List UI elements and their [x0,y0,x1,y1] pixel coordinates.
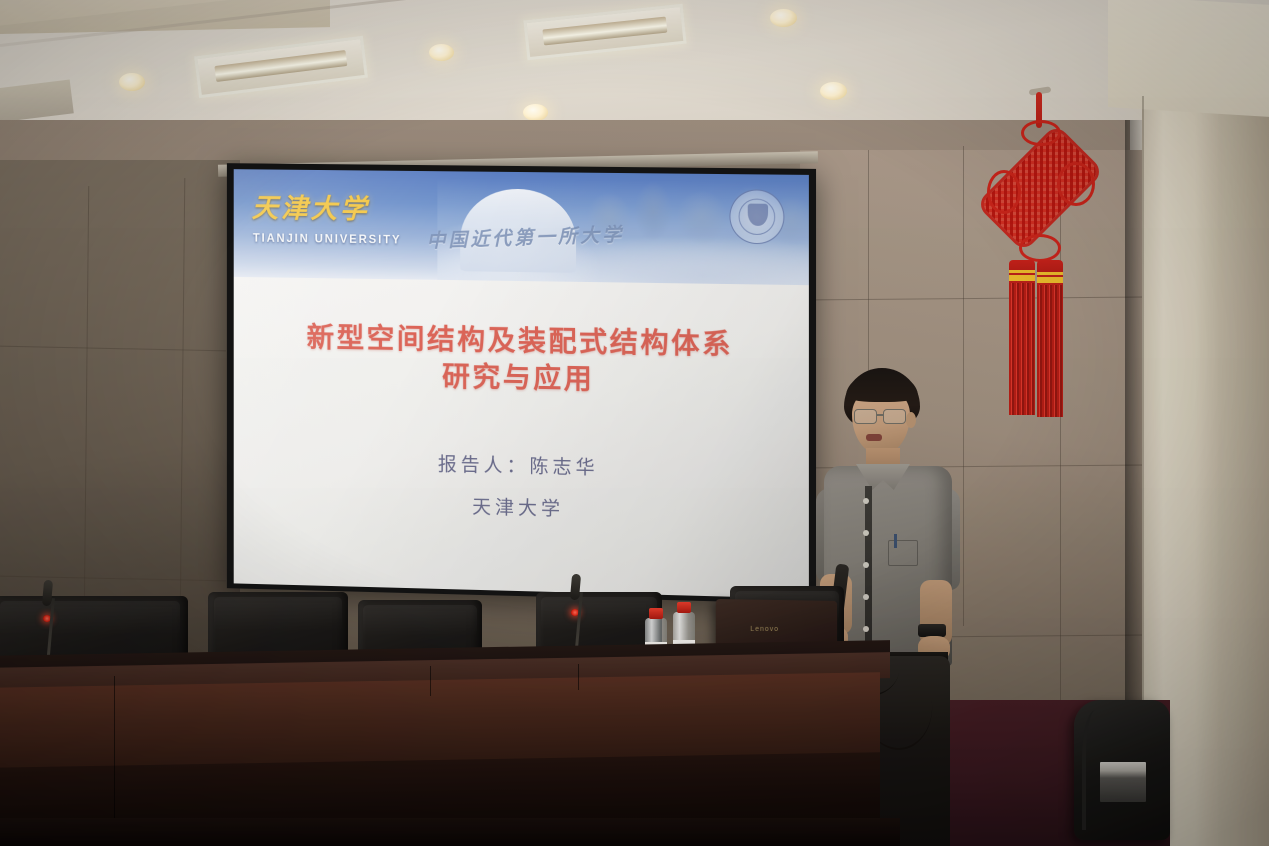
projected-slide: 天津大学 TIANJIN UNIVERSITY 中国近代第一所大学 新型空间结构… [234,169,809,599]
knot-loop-left [987,170,1021,214]
backpack [1074,700,1170,840]
table-seam [430,666,431,696]
shirt-button [863,530,869,536]
presenter-ear [906,412,916,428]
knot-loop-right [1057,162,1095,206]
university-seal-icon [729,189,784,244]
slide-presenter-name: 报告人：陈志华 [256,445,785,483]
slide-title: 新型空间结构及装配式结构体系 研究与应用 [251,319,792,402]
knot-loop-top [1021,120,1061,146]
bottle-cap [677,602,691,613]
projection-screen: 天津大学 TIANJIN UNIVERSITY 中国近代第一所大学 新型空间结构… [227,163,816,604]
downlight-7 [820,82,847,100]
bottle-cap [649,608,663,619]
column-side-face [1218,108,1269,846]
knot-loop-bottom [1019,234,1061,262]
backpack-tag [1100,762,1146,802]
knot-body [991,122,1089,262]
pen-icon [894,534,897,548]
university-logo-chinese: 天津大学 [252,187,370,227]
shirt-button [863,626,869,632]
chinese-knot [985,88,1095,408]
table-seam [578,664,579,690]
slide-content: 天津大学 TIANJIN UNIVERSITY 中国近代第一所大学 新型空间结构… [234,169,809,599]
knot-gold-band-left [1009,270,1035,283]
slide-banner: 天津大学 TIANJIN UNIVERSITY 中国近代第一所大学 [234,169,809,285]
glasses-icon [854,409,877,424]
presenter-mouth [866,434,882,441]
conference-room-photo: 天津大学 TIANJIN UNIVERSITY 中国近代第一所大学 新型空间结构… [0,0,1269,846]
university-logo-english: TIANJIN UNIVERSITY [253,233,402,247]
shirt-button [863,498,869,504]
knot-gold-band-right [1037,272,1063,285]
glasses-bridge [876,414,884,416]
shirt-button [863,594,869,600]
glasses-icon [883,409,906,424]
downlight-6 [770,9,797,27]
downlight-1 [119,73,145,91]
column-capital [1108,0,1269,117]
laptop-brand-label: Lenovo [750,626,779,633]
shirt-pocket [888,540,918,566]
shirt-button [863,562,869,568]
floor-foreground [0,818,900,846]
knot-fringe-right [1037,285,1063,417]
downlight-4 [523,104,548,121]
downlight-5 [429,44,454,61]
table-seam [114,676,115,836]
slide-affiliation: 天津大学 [256,487,785,526]
knot-fringe-left [1009,283,1035,415]
